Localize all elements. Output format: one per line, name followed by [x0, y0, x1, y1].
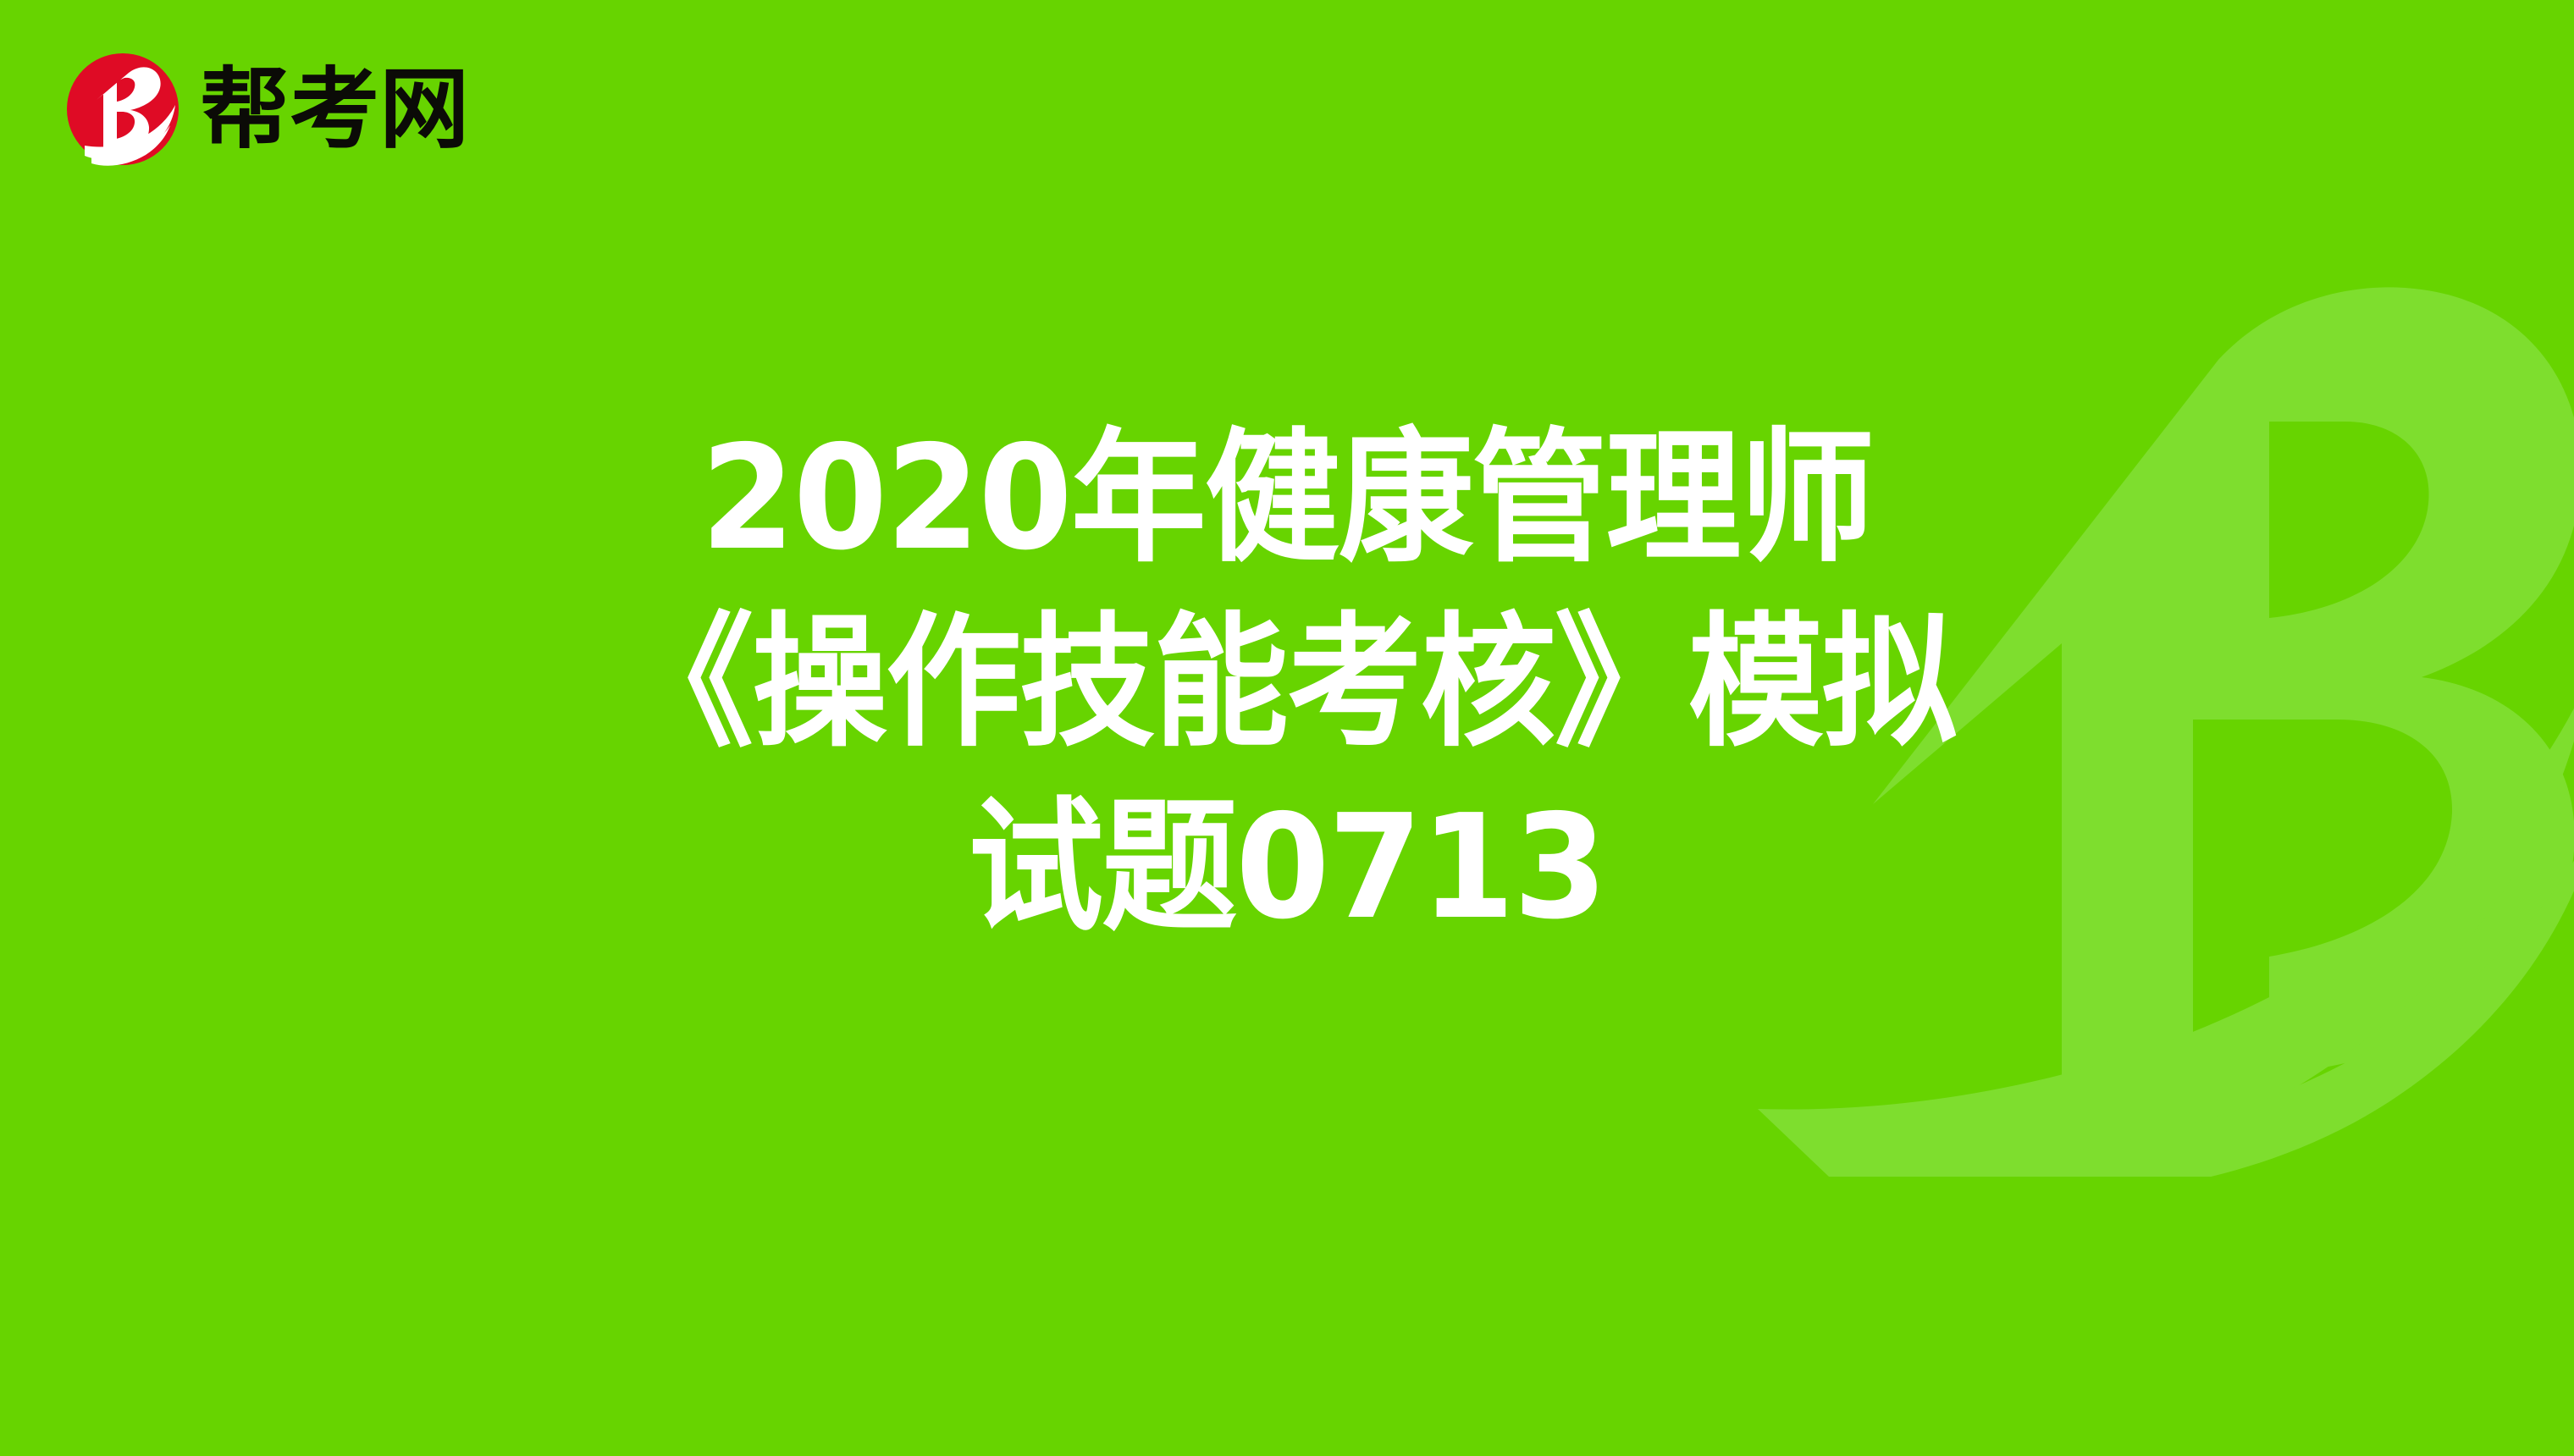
brand-logo[interactable]: 帮考网: [64, 49, 464, 169]
page-title-line-1: 2020年健康管理师: [125, 406, 2450, 591]
page-title: 2020年健康管理师 《操作技能考核》模拟 试题0713: [0, 406, 2574, 960]
page-title-line-3: 试题0713: [125, 775, 2450, 960]
page-title-line-2: 《操作技能考核》模拟: [125, 591, 2450, 775]
poster-canvas: 帮考网 2020年健康管理师 《操作技能考核》模拟 试题0713: [0, 0, 2574, 1456]
brand-name-label: 帮考网: [200, 65, 469, 153]
bangkao-b-logo-icon: [64, 51, 181, 168]
